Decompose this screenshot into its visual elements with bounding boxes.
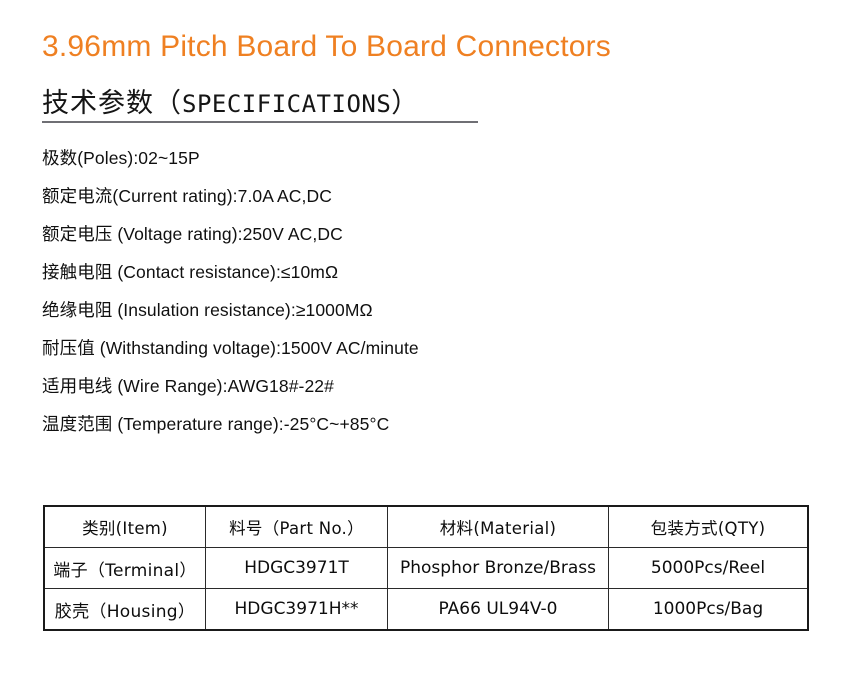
table-header-part-no: 料号（Part No.） xyxy=(206,506,388,548)
table-header-qty: 包装方式(QTY) xyxy=(609,506,809,548)
spec-line: 额定电压 (Voltage rating):250V AC,DC xyxy=(42,215,742,253)
table-header-row: 类别(Item) 料号（Part No.） 材料(Material) 包装方式(… xyxy=(44,506,808,548)
spec-line: 绝缘电阻 (Insulation resistance):≥1000MΩ xyxy=(42,291,742,329)
section-heading: 技术参数（SPECIFICATIONS） xyxy=(42,86,419,121)
spec-line: 接触电阻 (Contact resistance):≤10mΩ xyxy=(42,253,742,291)
table-row: 端子（Terminal） HDGC3971T Phosphor Bronze/B… xyxy=(44,548,808,589)
cell-qty: 5000Pcs/Reel xyxy=(609,548,809,589)
cell-qty: 1000Pcs/Bag xyxy=(609,589,809,631)
table-header-item: 类别(Item) xyxy=(44,506,206,548)
spec-line: 极数(Poles):02~15P xyxy=(42,139,742,177)
table-header-material: 材料(Material) xyxy=(388,506,609,548)
cell-item: 端子（Terminal） xyxy=(44,548,206,589)
spec-line: 耐压值 (Withstanding voltage):1500V AC/minu… xyxy=(42,329,742,367)
section-heading-close-paren: ） xyxy=(391,88,419,119)
cell-material: Phosphor Bronze/Brass xyxy=(388,548,609,589)
cell-part-no: HDGC3971H** xyxy=(206,589,388,631)
section-heading-cjk: 技术参数（ xyxy=(42,88,182,119)
cell-part-no: HDGC3971T xyxy=(206,548,388,589)
spec-line: 适用电线 (Wire Range):AWG18#-22# xyxy=(42,367,742,405)
cell-item: 胶壳（Housing） xyxy=(44,589,206,631)
heading-underline-rule xyxy=(42,121,478,123)
cell-material: PA66 UL94V-0 xyxy=(388,589,609,631)
table-row: 胶壳（Housing） HDGC3971H** PA66 UL94V-0 100… xyxy=(44,589,808,631)
specifications-list: 极数(Poles):02~15P 额定电流(Current rating):7.… xyxy=(42,139,742,443)
spec-line: 额定电流(Current rating):7.0A AC,DC xyxy=(42,177,742,215)
page-title: 3.96mm Pitch Board To Board Connectors xyxy=(42,28,611,66)
part-number-table: 类别(Item) 料号（Part No.） 材料(Material) 包装方式(… xyxy=(43,505,809,631)
spec-line: 温度范围 (Temperature range):-25°C~+85°C xyxy=(42,405,742,443)
section-heading-latin: SPECIFICATIONS xyxy=(182,90,391,118)
